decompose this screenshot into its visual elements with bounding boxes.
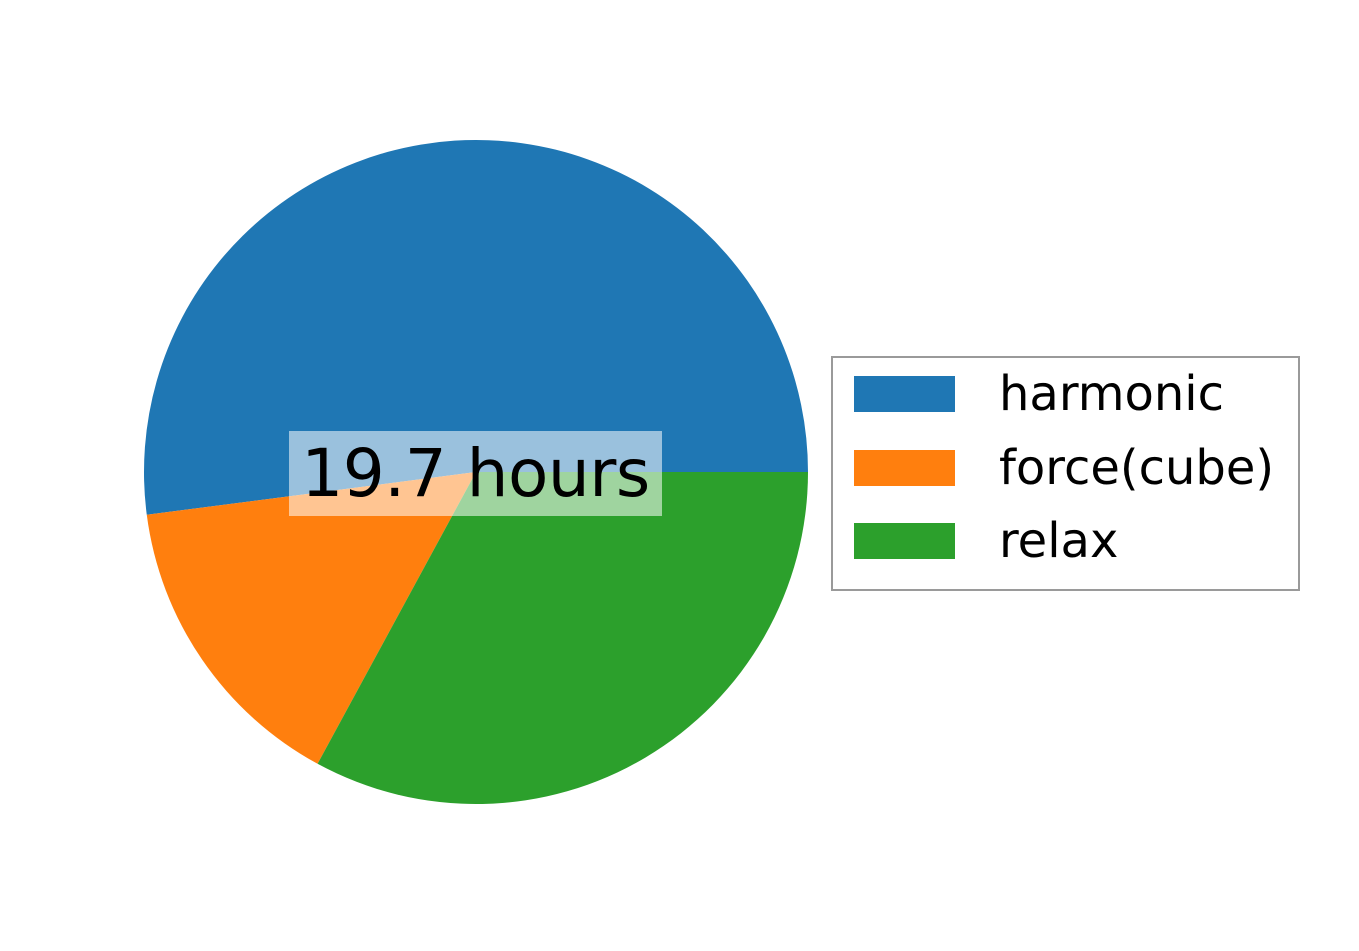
legend-label-relax: relax: [999, 517, 1118, 565]
legend-label-harmonic: harmonic: [999, 370, 1224, 418]
legend-item-force-cube[interactable]: force(cube): [833, 439, 1298, 497]
pie-chart-figure: 19.7 hours harmonic force(cube) relax: [0, 0, 1359, 951]
legend: harmonic force(cube) relax: [831, 356, 1300, 591]
legend-item-harmonic[interactable]: harmonic: [833, 365, 1298, 423]
center-value-text: 19.7 hours: [301, 441, 650, 507]
legend-item-relax[interactable]: relax: [833, 512, 1298, 570]
legend-swatch-force-cube: [854, 450, 955, 486]
legend-label-force-cube: force(cube): [999, 444, 1274, 492]
legend-swatch-harmonic: [854, 376, 955, 412]
center-value-label: 19.7 hours: [289, 431, 662, 516]
legend-swatch-relax: [854, 523, 955, 559]
